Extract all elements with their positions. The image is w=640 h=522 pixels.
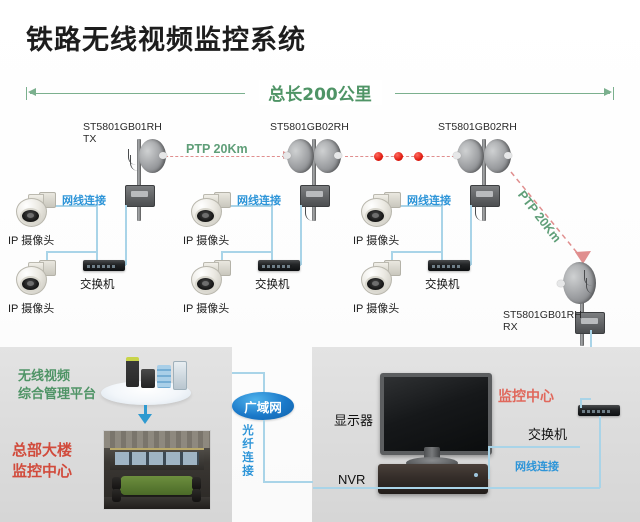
site-3-camera-top-label: IP 摄像头 (353, 232, 399, 248)
diagram-canvas: 铁路无线视频监控系统 总长200公里 PTP 20Km PTP 20Km ST5… (0, 0, 640, 522)
photo-video-wall (115, 452, 200, 465)
span-line-right (395, 93, 610, 94)
site-2-device-name: ST5801GB02RH (270, 121, 349, 133)
platform-graphic (100, 355, 192, 407)
radio-unit-icon (125, 185, 155, 207)
site-1-cable-cam-bottom-h (46, 251, 96, 253)
site-2-cable-cam-top (271, 205, 273, 265)
site-2-cable-antenna-drop (300, 205, 302, 265)
platform-arrow-head (138, 414, 152, 424)
site-2-antenna (285, 133, 345, 221)
camera-lens-icon (197, 210, 214, 222)
site-1-camera-bottom-label: IP 摄像头 (8, 300, 54, 316)
site-1-device-role: TX (83, 133, 96, 145)
site-2-switch (258, 260, 300, 271)
camera-lens-icon (197, 278, 214, 290)
monitor-screen (380, 373, 492, 455)
fiber-label: 光纤连接 (240, 424, 256, 478)
nvr-label: NVR (338, 472, 365, 487)
site-2-camera-bottom-label: IP 摄像头 (183, 300, 229, 316)
control-center-cable-switch-in (580, 398, 591, 400)
server-rack-icon (173, 361, 187, 390)
platform-label-line1: 无线视频 (18, 368, 96, 386)
wan-node: 广域网 (232, 392, 294, 420)
site-2-camera-top (189, 190, 231, 228)
site-1-switch-label: 交换机 (80, 276, 115, 292)
photo-ceiling (104, 431, 210, 448)
control-center-cable-nvr-h (488, 446, 580, 448)
dish-feed-icon (504, 152, 512, 159)
hq-label: 总部大楼 监控中心 (12, 440, 72, 482)
dish-feed-icon (557, 280, 565, 287)
ptp-label-1: PTP 20Km (186, 142, 248, 156)
site-3-cable-antenna-drop (470, 205, 472, 265)
dish-feed-icon (453, 152, 461, 159)
dish-feed-icon (334, 152, 342, 159)
site-3-cable-label: 网线连接 (407, 192, 451, 208)
site-2-cable-cam-bottom-h (221, 251, 271, 253)
antenna-wire (130, 155, 140, 171)
storage-stack-icon (157, 365, 171, 388)
site-3-cable-cam-top (441, 205, 443, 265)
receiver-device-role: RX (503, 321, 518, 333)
site-1-switch (83, 260, 125, 271)
camera-lens-icon (367, 278, 384, 290)
control-center-switch (578, 405, 620, 416)
platform-label: 无线视频 综合管理平台 (18, 368, 96, 404)
hq-label-line2: 监控中心 (12, 461, 72, 482)
control-center-cable-switch-up (580, 398, 582, 408)
hq-conference-photo (103, 430, 211, 510)
site-1-camera-top-label: IP 摄像头 (8, 232, 54, 248)
antenna-wire (305, 205, 315, 221)
dish-icon (287, 139, 314, 173)
hq-label-line1: 总部大楼 (12, 440, 72, 461)
wan-cable-from-hq (232, 372, 264, 374)
photo-chair (112, 489, 121, 502)
site-1-cable-label: 网线连接 (62, 192, 106, 208)
fiber-cable-down (263, 420, 265, 482)
control-center-cable-switch-down (599, 416, 601, 488)
span-arrowhead-left (28, 88, 36, 96)
wan-cable-from-hq-v (263, 372, 265, 394)
site-3-camera-top (359, 190, 401, 228)
site-1-camera-top (14, 190, 56, 228)
control-center-cable-nvr (488, 446, 490, 479)
platform-label-line2: 综合管理平台 (18, 386, 96, 404)
site-3-cable-cam-bottom-h (391, 251, 441, 253)
dish-icon (457, 139, 484, 173)
receiver-antenna (553, 258, 613, 346)
site-3-device-name: ST5801GB02RH (438, 121, 517, 133)
dish-feed-icon (159, 152, 167, 159)
site-3-camera-bottom-label: IP 摄像头 (353, 300, 399, 316)
photo-chair (192, 489, 201, 502)
receiver-device-name: ST5801GB01RH (503, 309, 582, 321)
site-1-antenna (110, 133, 170, 221)
site-2-cable-label: 网线连接 (237, 192, 281, 208)
control-center-switch-label: 交换机 (528, 424, 567, 443)
photo-conference-table (119, 476, 195, 495)
control-center-cable-bottom (313, 487, 600, 489)
server-box-icon (141, 369, 155, 388)
continuation-dot (394, 152, 403, 161)
fiber-cable-to-center (263, 481, 313, 483)
span-label: 总长200公里 (259, 80, 381, 105)
site-3-switch-label: 交换机 (425, 276, 460, 292)
continuation-dot (414, 152, 423, 161)
radio-unit-icon (470, 185, 500, 207)
monitor-label: 显示器 (334, 410, 373, 429)
nvr-device (378, 464, 488, 494)
site-2-camera-bottom (189, 258, 231, 296)
span-left-cap (26, 87, 27, 100)
antenna-wire (475, 205, 485, 221)
camera-lens-icon (22, 278, 39, 290)
site-1-camera-bottom (14, 258, 56, 296)
radio-unit-icon (300, 185, 330, 207)
camera-lens-icon (22, 210, 39, 222)
camera-lens-icon (367, 210, 384, 222)
site-3-switch (428, 260, 470, 271)
site-1-cable-cam-top (96, 205, 98, 265)
site-3-antenna (455, 133, 515, 221)
span-arrowhead-right (604, 88, 612, 96)
dish-feed-icon (283, 152, 291, 159)
site-1-cable-antenna-drop (125, 205, 127, 265)
control-center-title: 监控中心 (498, 386, 554, 406)
site-3-camera-bottom (359, 258, 401, 296)
antenna-wire (586, 278, 596, 294)
control-center-cable-label: 网线连接 (515, 458, 559, 474)
page-title: 铁路无线视频监控系统 (26, 18, 306, 57)
continuation-dot (374, 152, 383, 161)
ptp-link-1 (160, 156, 285, 157)
span-line-left (30, 93, 245, 94)
site-1-device-name: ST5801GB01RH (83, 121, 162, 133)
server-tower-icon (126, 357, 139, 387)
span-right-cap (613, 87, 614, 100)
wan-label: 广域网 (244, 397, 282, 416)
site-2-camera-top-label: IP 摄像头 (183, 232, 229, 248)
site-2-switch-label: 交换机 (255, 276, 290, 292)
